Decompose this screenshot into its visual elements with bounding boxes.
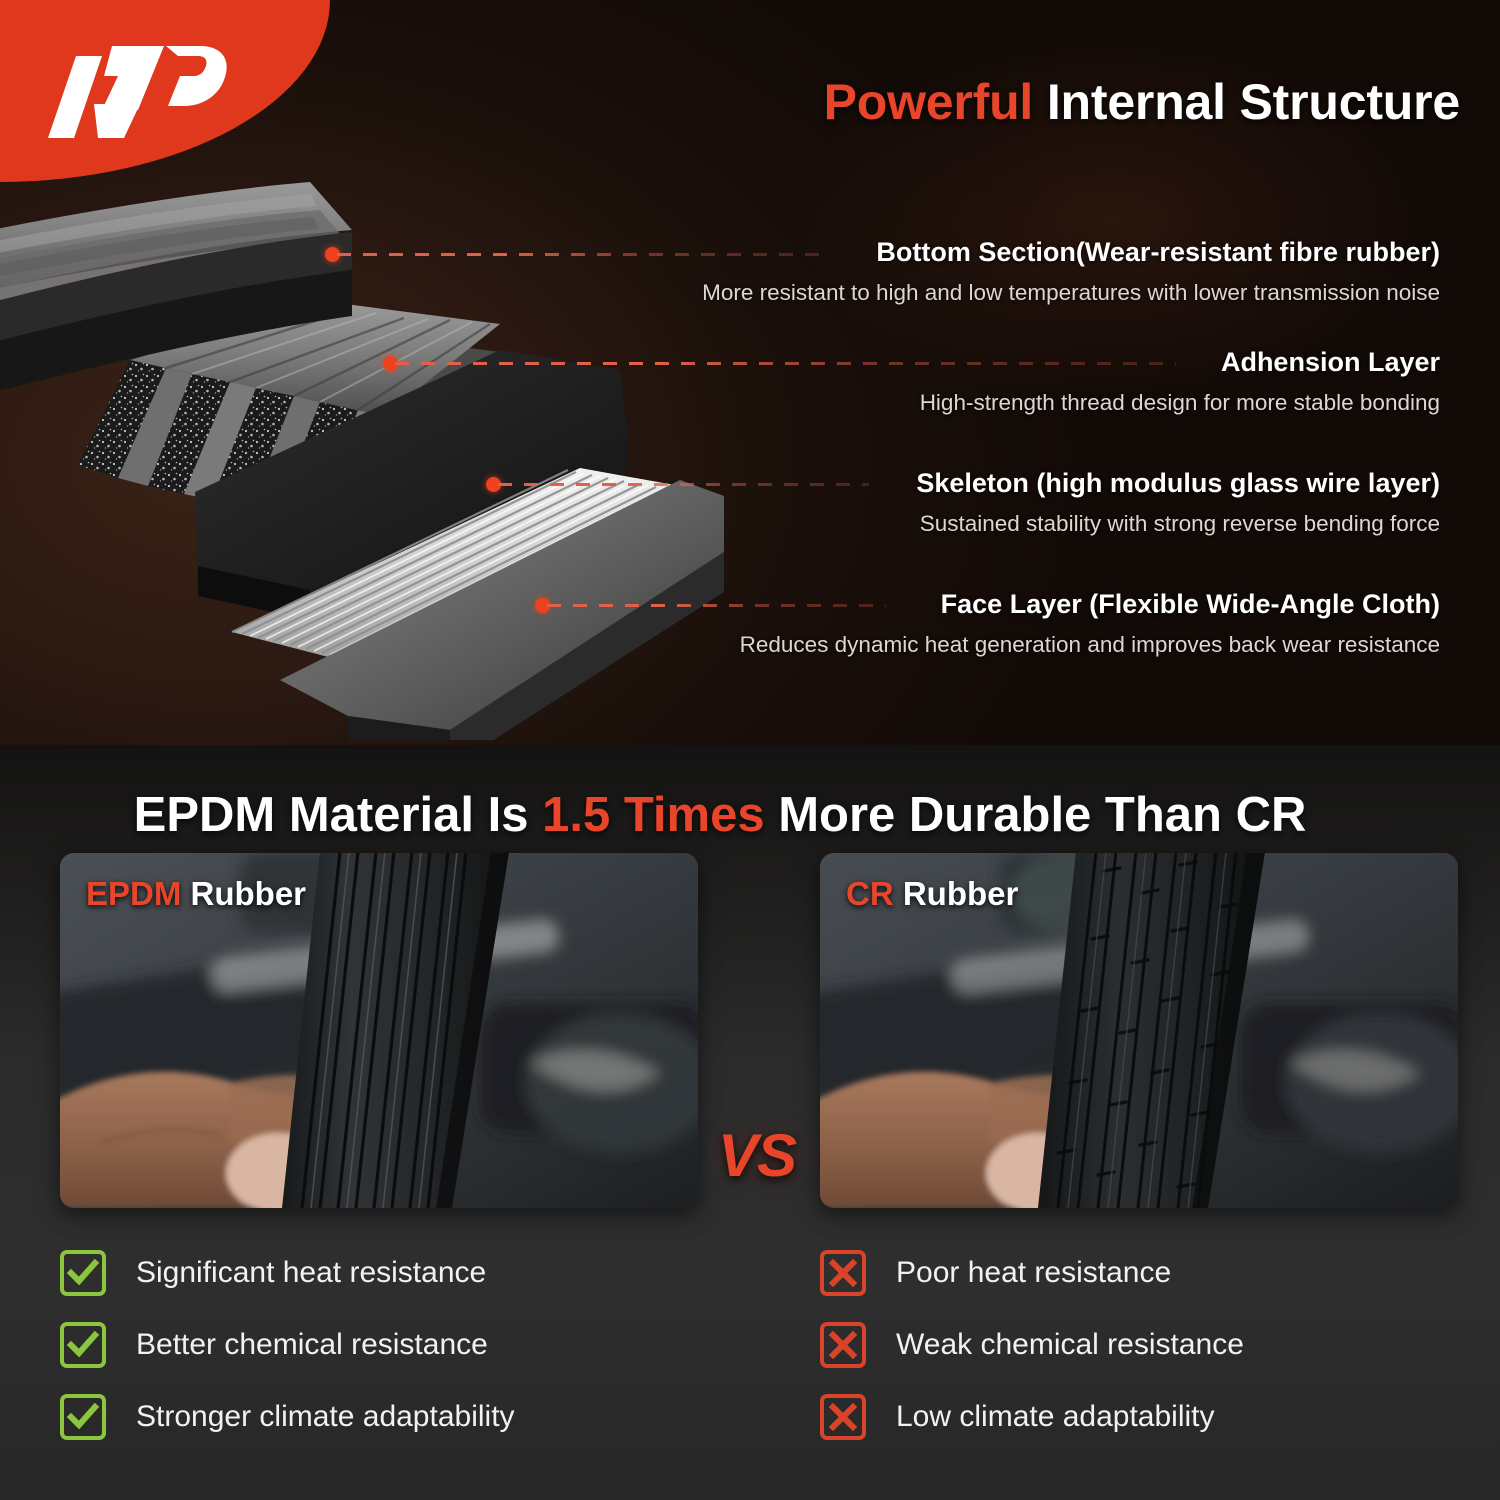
cr-card-label-rest: Rubber [903,875,1019,912]
cr-card-label-highlight: CR [846,875,894,912]
cross-icon [820,1250,866,1296]
cr-feature-list: Poor heat resistance Weak chemical resis… [820,1237,1460,1453]
list-item: Significant heat resistance [60,1237,700,1309]
internal-structure-panel: Powerful Internal Structure Bottom Secti… [0,0,1500,745]
comparison-cards: EPDM Rubber [0,853,1500,1208]
list-item-label: Better chemical resistance [136,1325,488,1365]
epdm-card-label-highlight: EPDM [86,875,181,912]
list-item: Weak chemical resistance [820,1309,1460,1381]
epdm-card-label: EPDM Rubber [86,873,306,915]
vs-badge: VS [707,1121,807,1191]
callout-subtitle: Sustained stability with strong reverse … [420,507,1440,541]
cross-icon [820,1322,866,1368]
epdm-card-label-rest: Rubber [191,875,307,912]
comparison-heading: EPDM Material Is 1.5 Times More Durable … [0,783,1440,847]
list-item: Better chemical resistance [60,1309,700,1381]
callout-subtitle: More resistant to high and low temperatu… [420,276,1440,310]
callout-skeleton: Skeleton (high modulus glass wire layer)… [420,466,1440,541]
epdm-photo-card: EPDM Rubber [60,853,698,1208]
hp-monogram-logo-icon [42,46,232,138]
callout-title: Bottom Section(Wear-resistant fibre rubb… [420,235,1440,269]
callout-title: Adhension Layer [420,345,1440,379]
comparison-heading-part2: More Durable Than CR [765,788,1307,842]
cross-icon [820,1394,866,1440]
list-item-label: Poor heat resistance [896,1253,1171,1293]
epdm-feature-list: Significant heat resistance Better chemi… [60,1237,700,1453]
list-item-label: Significant heat resistance [136,1253,486,1293]
page-title-highlight: Powerful [824,74,1034,130]
comparison-heading-part1: EPDM Material Is [134,788,542,842]
callout-adhension-layer: Adhension Layer High-strength thread des… [420,345,1440,420]
list-item: Poor heat resistance [820,1237,1460,1309]
callout-title: Face Layer (Flexible Wide-Angle Cloth) [420,587,1440,621]
infographic-page: Powerful Internal Structure Bottom Secti… [0,0,1500,1500]
check-icon [60,1394,106,1440]
list-item-label: Low climate adaptability [896,1397,1215,1437]
check-icon [60,1322,106,1368]
callout-bottom-section: Bottom Section(Wear-resistant fibre rubb… [420,235,1440,310]
cr-photo-card: CR Rubber [820,853,1458,1208]
callout-subtitle: High-strength thread design for more sta… [420,386,1440,420]
epdm-vs-cr-comparison-panel: EPDM Material Is 1.5 Times More Durable … [0,745,1500,1500]
list-item: Stronger climate adaptability [60,1381,700,1453]
callout-title: Skeleton (high modulus glass wire layer) [420,466,1440,500]
list-item-label: Stronger climate adaptability [136,1397,515,1437]
list-item-label: Weak chemical resistance [896,1325,1244,1365]
page-title-rest: Internal Structure [1047,74,1460,130]
callout-subtitle: Reduces dynamic heat generation and impr… [420,628,1440,662]
cr-card-label: CR Rubber [846,873,1018,915]
page-title-internal-structure: Powerful Internal Structure [600,68,1460,136]
comparison-heading-highlight: 1.5 Times [542,788,764,842]
check-icon [60,1250,106,1296]
list-item: Low climate adaptability [820,1381,1460,1453]
callout-face-layer: Face Layer (Flexible Wide-Angle Cloth) R… [420,587,1440,662]
